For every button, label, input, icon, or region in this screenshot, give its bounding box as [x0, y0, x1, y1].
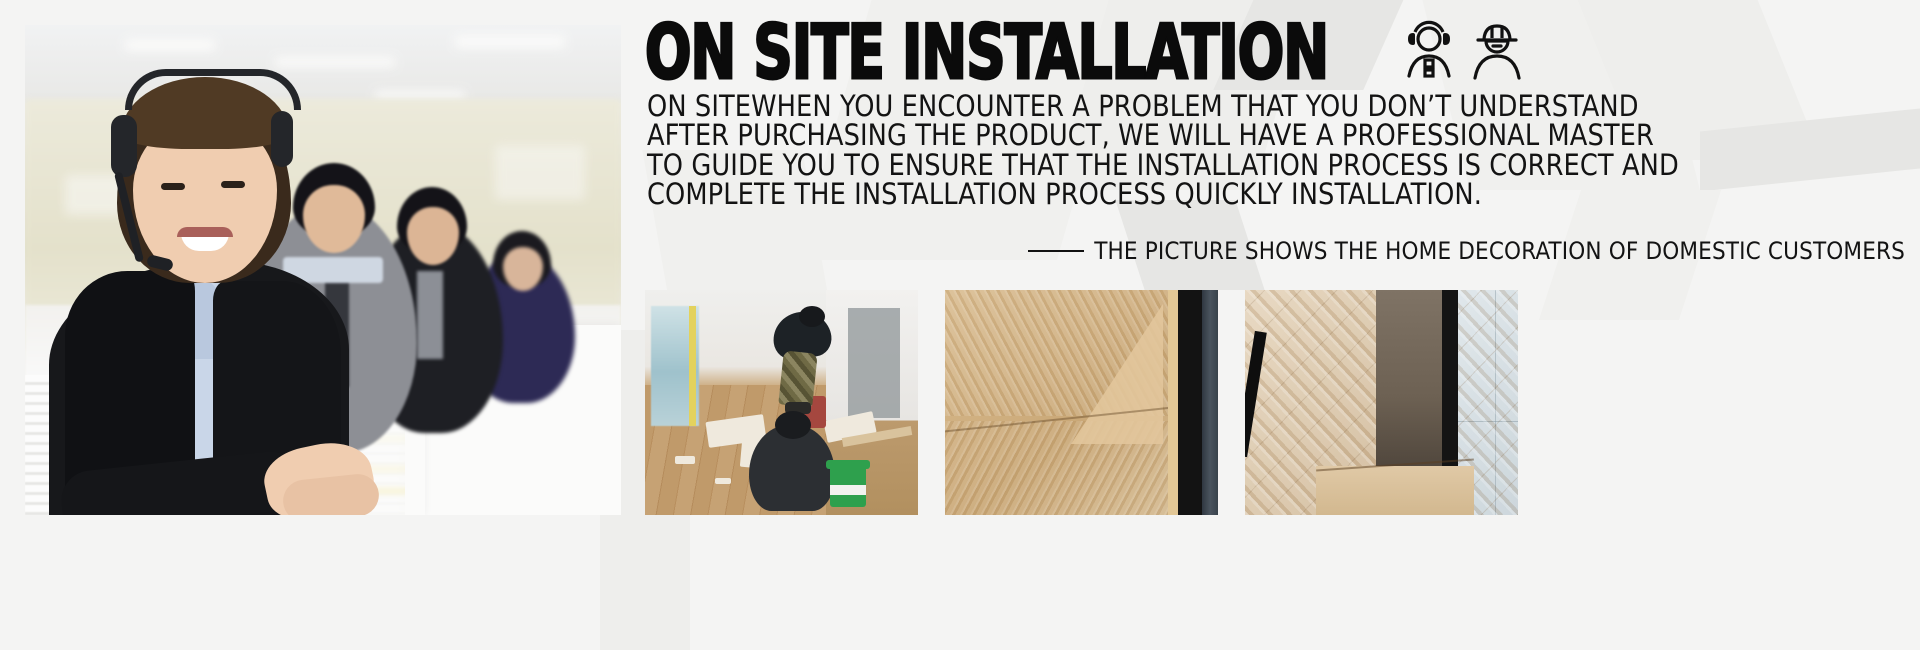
- body-copy: ON SITEWHEN YOU ENCOUNTER A PROBLEM THAT…: [647, 92, 1886, 210]
- body-line-4: COMPLETE THE INSTALLATION PROCESS QUICKL…: [647, 180, 1886, 209]
- caption-dash-rule: [1028, 250, 1084, 252]
- herringbone-floor-doorway-photo: [1245, 290, 1518, 515]
- call-center-team-photo: [25, 25, 621, 515]
- installers-laying-floor-photo: [645, 290, 918, 515]
- on-site-installation-banner: ON SITE INSTALLATION: [0, 0, 1920, 650]
- hardhat-worker-icon: [1470, 20, 1524, 87]
- content-column: ON SITE INSTALLATION: [645, 0, 1920, 650]
- photo-gallery: [645, 290, 1920, 650]
- body-line-1: ON SITEWHEN YOU ENCOUNTER A PROBLEM THAT…: [647, 92, 1886, 121]
- page-title: ON SITE INSTALLATION: [645, 17, 1328, 89]
- caption-text: THE PICTURE SHOWS THE HOME DECORATION OF…: [1094, 237, 1905, 265]
- headline-row: ON SITE INSTALLATION: [645, 16, 1524, 90]
- headset-agent-icon: [1404, 20, 1454, 87]
- body-line-2: AFTER PURCHASING THE PRODUCT, WE WILL HA…: [647, 121, 1886, 150]
- chevron-wood-floor-closeup-photo: [945, 290, 1218, 515]
- body-line-3: TO GUIDE YOU TO ENSURE THAT THE INSTALLA…: [647, 151, 1886, 180]
- caption: THE PICTURE SHOWS THE HOME DECORATION OF…: [1028, 237, 1905, 265]
